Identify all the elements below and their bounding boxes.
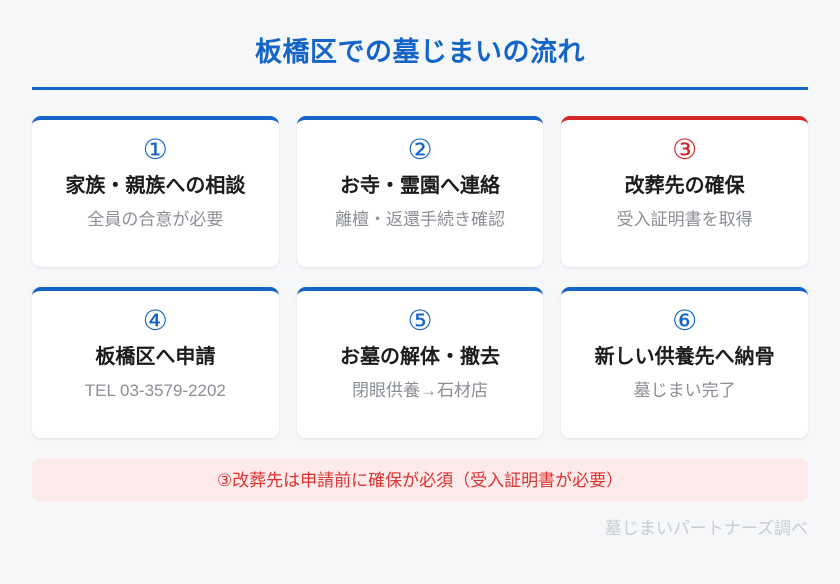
step-number-badge-6: ⑥ [672,307,697,335]
step-subtitle-3: 受入証明書を取得 [617,210,753,230]
warning-note-text: ③改葬先は申請前に確保が必須（受入証明書が必要） [217,472,623,489]
step-title-5: お墓の解体・撤去 [340,345,500,370]
step-title-3: 改葬先の確保 [625,174,745,199]
step-subtitle-1: 全員の合意が必要 [87,210,223,230]
step-subtitle-2: 離檀・返還手続き確認 [335,210,505,230]
step-title-2: お寺・霊園へ連絡 [340,174,500,199]
step-subtitle-6: 墓じまい完了 [634,381,736,401]
step-number-badge-2: ② [407,136,432,164]
step-title-4: 板橋区へ申請 [95,345,215,370]
step-subtitle-4: TEL 03-3579-2202 [85,381,226,401]
page-title: 板橋区での墓じまいの流れ [0,36,840,68]
step-card-2: ② お寺・霊園へ連絡 離檀・返還手続き確認 [297,116,544,267]
step-title-6: 新しい供養先へ納骨 [595,345,775,370]
step-card-1: ① 家族・親族への相談 全員の合意が必要 [32,116,279,267]
footer: 墓じまいパートナーズ調べ [32,520,808,539]
step-card-6: ⑥ 新しい供養先へ納骨 墓じまい完了 [561,287,808,438]
step-number-badge-4: ④ [143,307,168,335]
step-card-4: ④ 板橋区へ申請 TEL 03-3579-2202 [32,287,279,438]
header: 板橋区での墓じまいの流れ [0,0,840,90]
step-card-5: ⑤ お墓の解体・撤去 閉眼供養→石材店 [297,287,544,438]
source-credit-text: 墓じまいパートナーズ調べ [605,519,808,538]
step-number-badge-1: ① [143,136,168,164]
step-number-badge-3: ③ [672,136,697,164]
warning-note-banner: ③改葬先は申請前に確保が必須（受入証明書が必要） [32,458,808,502]
step-title-1: 家族・親族への相談 [65,174,245,199]
infographic-page: 板橋区での墓じまいの流れ ① 家族・親族への相談 全員の合意が必要 ② お寺・霊… [0,0,840,584]
step-number-badge-5: ⑤ [407,307,432,335]
step-subtitle-5: 閉眼供養→石材店 [352,381,488,401]
steps-grid: ① 家族・親族への相談 全員の合意が必要 ② お寺・霊園へ連絡 離檀・返還手続き… [32,116,808,438]
step-card-3: ③ 改葬先の確保 受入証明書を取得 [561,116,808,267]
title-underline-rule [32,87,808,90]
